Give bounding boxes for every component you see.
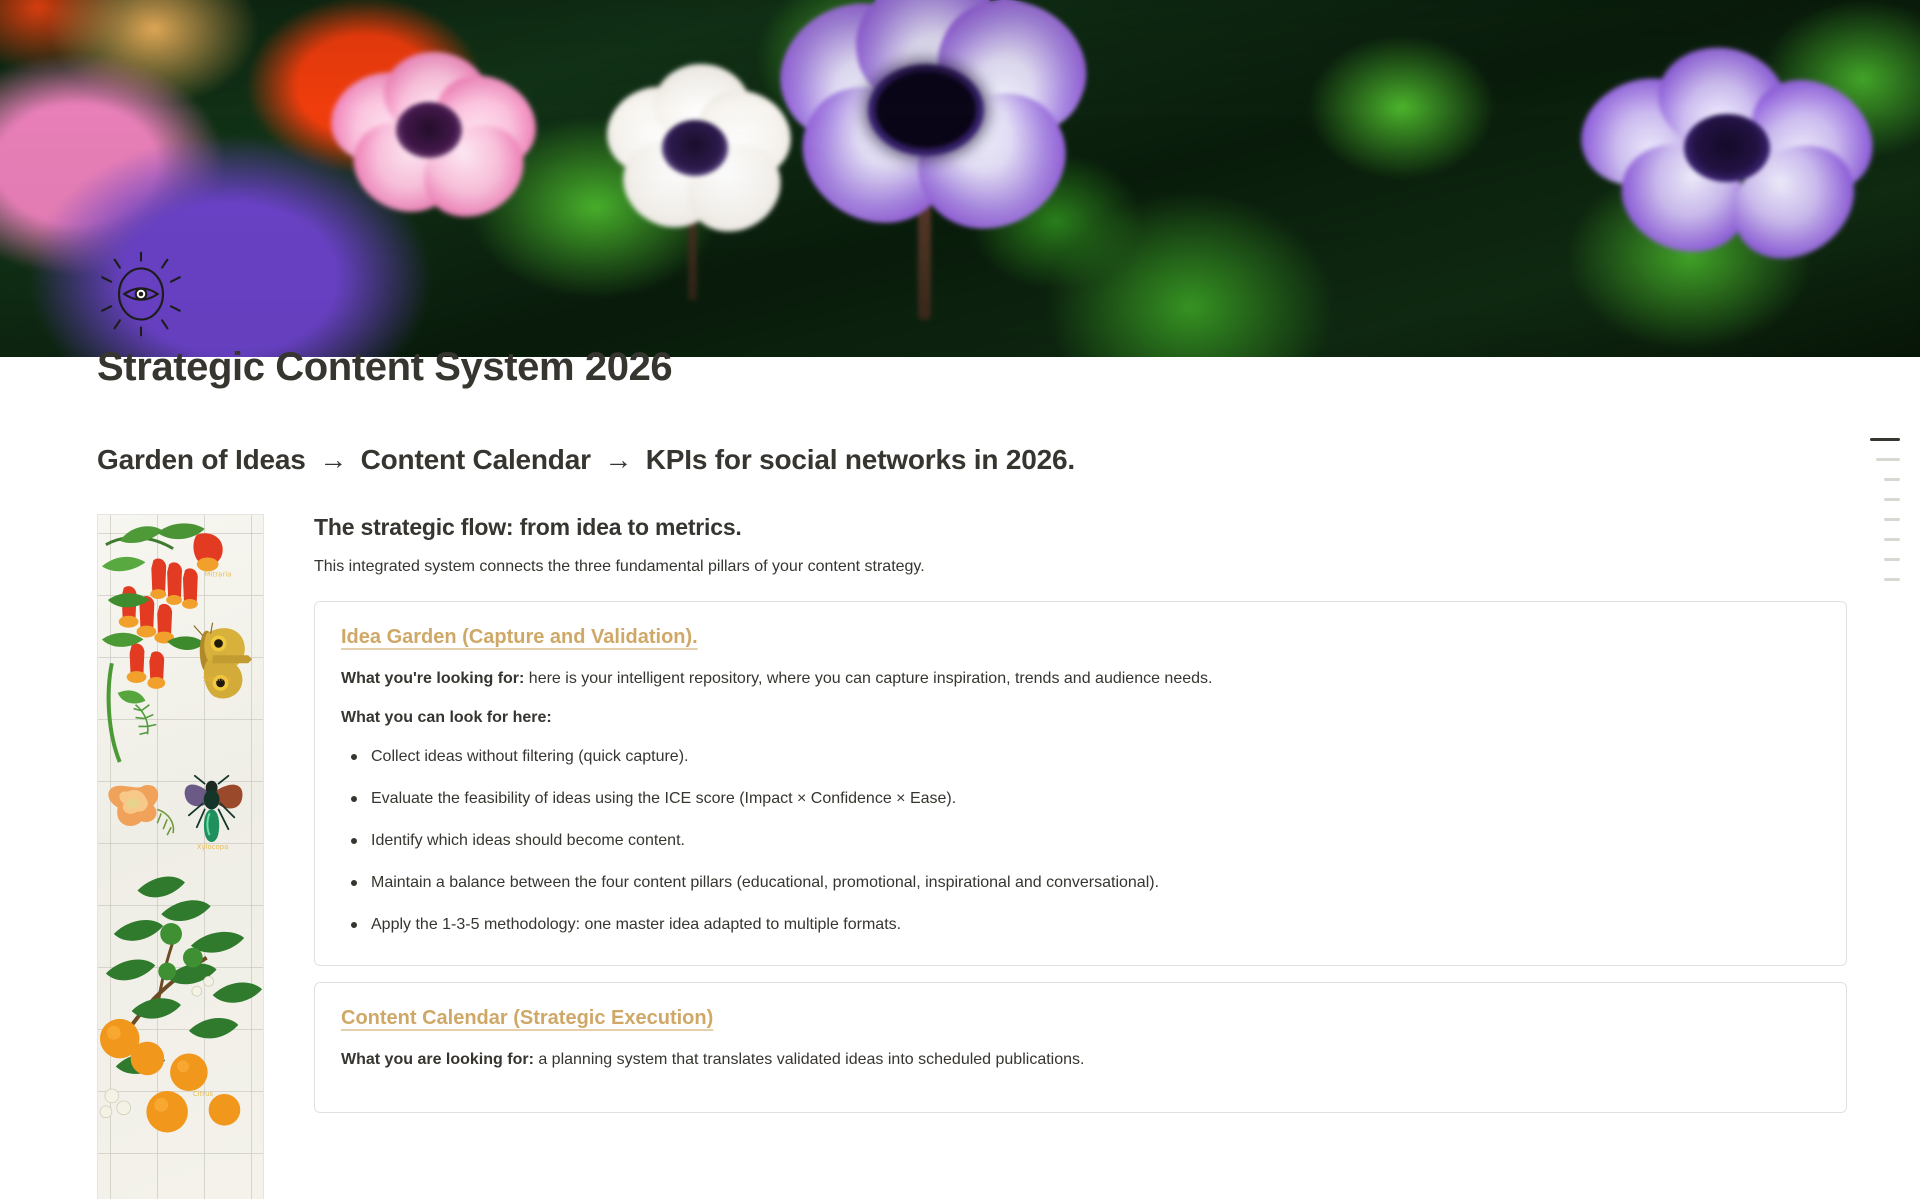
breadcrumb-item-content-calendar[interactable]: Content Calendar xyxy=(361,444,591,475)
hero-cover-image[interactable] xyxy=(0,0,1920,357)
list-item: Evaluate the feasibility of ideas using … xyxy=(341,787,1820,811)
pink-anemone-flower xyxy=(330,52,530,212)
list-item: Maintain a balance between the four cont… xyxy=(341,871,1820,895)
card-lead-text-2: a planning system that translates valida… xyxy=(534,1051,1085,1068)
toc-marker[interactable] xyxy=(1884,578,1900,581)
breadcrumb-item-garden-of-ideas[interactable]: Garden of Ideas xyxy=(97,444,306,475)
breadcrumb-arrow-icon-2: → xyxy=(598,444,638,475)
botanical-illustration[interactable]: Xylocopa Saturnia Citrus Mitraria xyxy=(97,514,264,1199)
toc-marker[interactable] xyxy=(1884,478,1900,481)
toc-marker[interactable] xyxy=(1884,498,1900,501)
svg-text:Citrus: Citrus xyxy=(193,1090,214,1098)
page-root: Strategic Content System 2026 Garden of … xyxy=(0,0,1920,1199)
toc-marker[interactable] xyxy=(1884,538,1900,541)
card-bullet-list-idea-garden: Collect ideas without filtering (quick c… xyxy=(341,745,1820,937)
toc-marker[interactable] xyxy=(1876,458,1900,461)
card-content-calendar[interactable]: Content Calendar (Strategic Execution) W… xyxy=(314,982,1847,1114)
toc-marker[interactable] xyxy=(1884,518,1900,521)
purple-anemone-flower xyxy=(760,0,1090,260)
violet-anemone-flowers-right xyxy=(1580,40,1920,270)
breadcrumb-arrow-icon-1: → xyxy=(313,444,353,475)
card-lead-text: here is your intelligent repository, whe… xyxy=(524,670,1212,687)
card-list-label-idea-garden: What you can look for here: xyxy=(341,706,1820,731)
page-title[interactable]: Strategic Content System 2026 xyxy=(97,343,1597,391)
list-item: Apply the 1-3-5 methodology: one master … xyxy=(341,913,1820,937)
toc-marker-active[interactable] xyxy=(1870,438,1900,441)
svg-text:Mitraria: Mitraria xyxy=(205,570,232,578)
card-lead-label: What you're looking for: xyxy=(341,670,524,687)
illustration-artwork: Xylocopa Saturnia Citrus Mitraria xyxy=(98,515,263,1193)
card-lead-idea-garden: What you're looking for: here is your in… xyxy=(341,667,1820,692)
list-item: Collect ideas without filtering (quick c… xyxy=(341,745,1820,769)
breadcrumb: Garden of Ideas → Content Calendar → KPI… xyxy=(97,444,1075,476)
table-of-contents-rail[interactable] xyxy=(1854,438,1900,581)
card-title-idea-garden[interactable]: Idea Garden (Capture and Validation). xyxy=(341,626,698,649)
eye-sun-icon[interactable] xyxy=(97,250,185,338)
toc-marker[interactable] xyxy=(1884,558,1900,561)
card-list-label-text: What you can look for here: xyxy=(341,709,552,726)
list-item: Identify which ideas should become conte… xyxy=(341,829,1820,853)
card-title-content-calendar[interactable]: Content Calendar (Strategic Execution) xyxy=(341,1007,713,1030)
section-lead: This integrated system connects the thre… xyxy=(314,555,1847,579)
svg-text:Xylocopa: Xylocopa xyxy=(197,843,229,851)
card-lead-content-calendar: What you are looking for: a planning sys… xyxy=(341,1048,1820,1073)
section-title: The strategic flow: from idea to metrics… xyxy=(314,514,1847,541)
hero-photo xyxy=(0,0,1920,357)
svg-text:Saturnia: Saturnia xyxy=(203,675,232,683)
main-column: The strategic flow: from idea to metrics… xyxy=(264,514,1847,1129)
breadcrumb-item-kpis[interactable]: KPIs for social networks in 2026. xyxy=(646,444,1075,475)
page-title-wrapper: Strategic Content System 2026 xyxy=(97,343,1597,391)
card-idea-garden[interactable]: Idea Garden (Capture and Validation). Wh… xyxy=(314,601,1847,966)
content-row: Xylocopa Saturnia Citrus Mitraria xyxy=(97,514,1847,1199)
card-lead-label-2: What you are looking for: xyxy=(341,1051,534,1068)
